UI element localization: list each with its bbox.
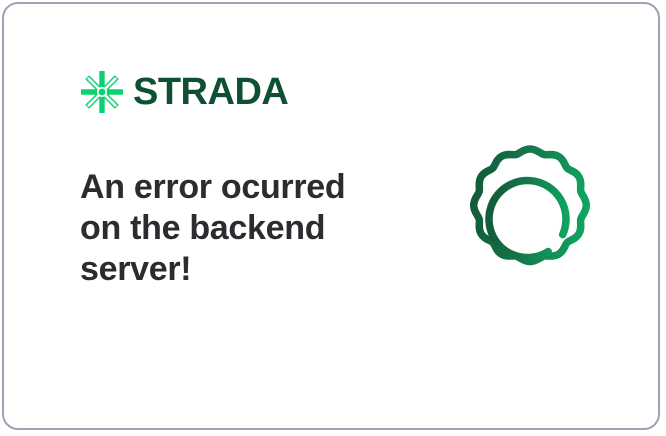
asterisk-starburst-icon [80,70,124,114]
brand-wordmark: STRADA [133,73,288,111]
error-card: STRADA An error ocurred on the backend s… [2,2,660,430]
gear-cog-icon [444,138,616,310]
brand-logo: STRADA [80,70,288,114]
error-headline: An error ocurred on the backend server! [80,167,380,290]
